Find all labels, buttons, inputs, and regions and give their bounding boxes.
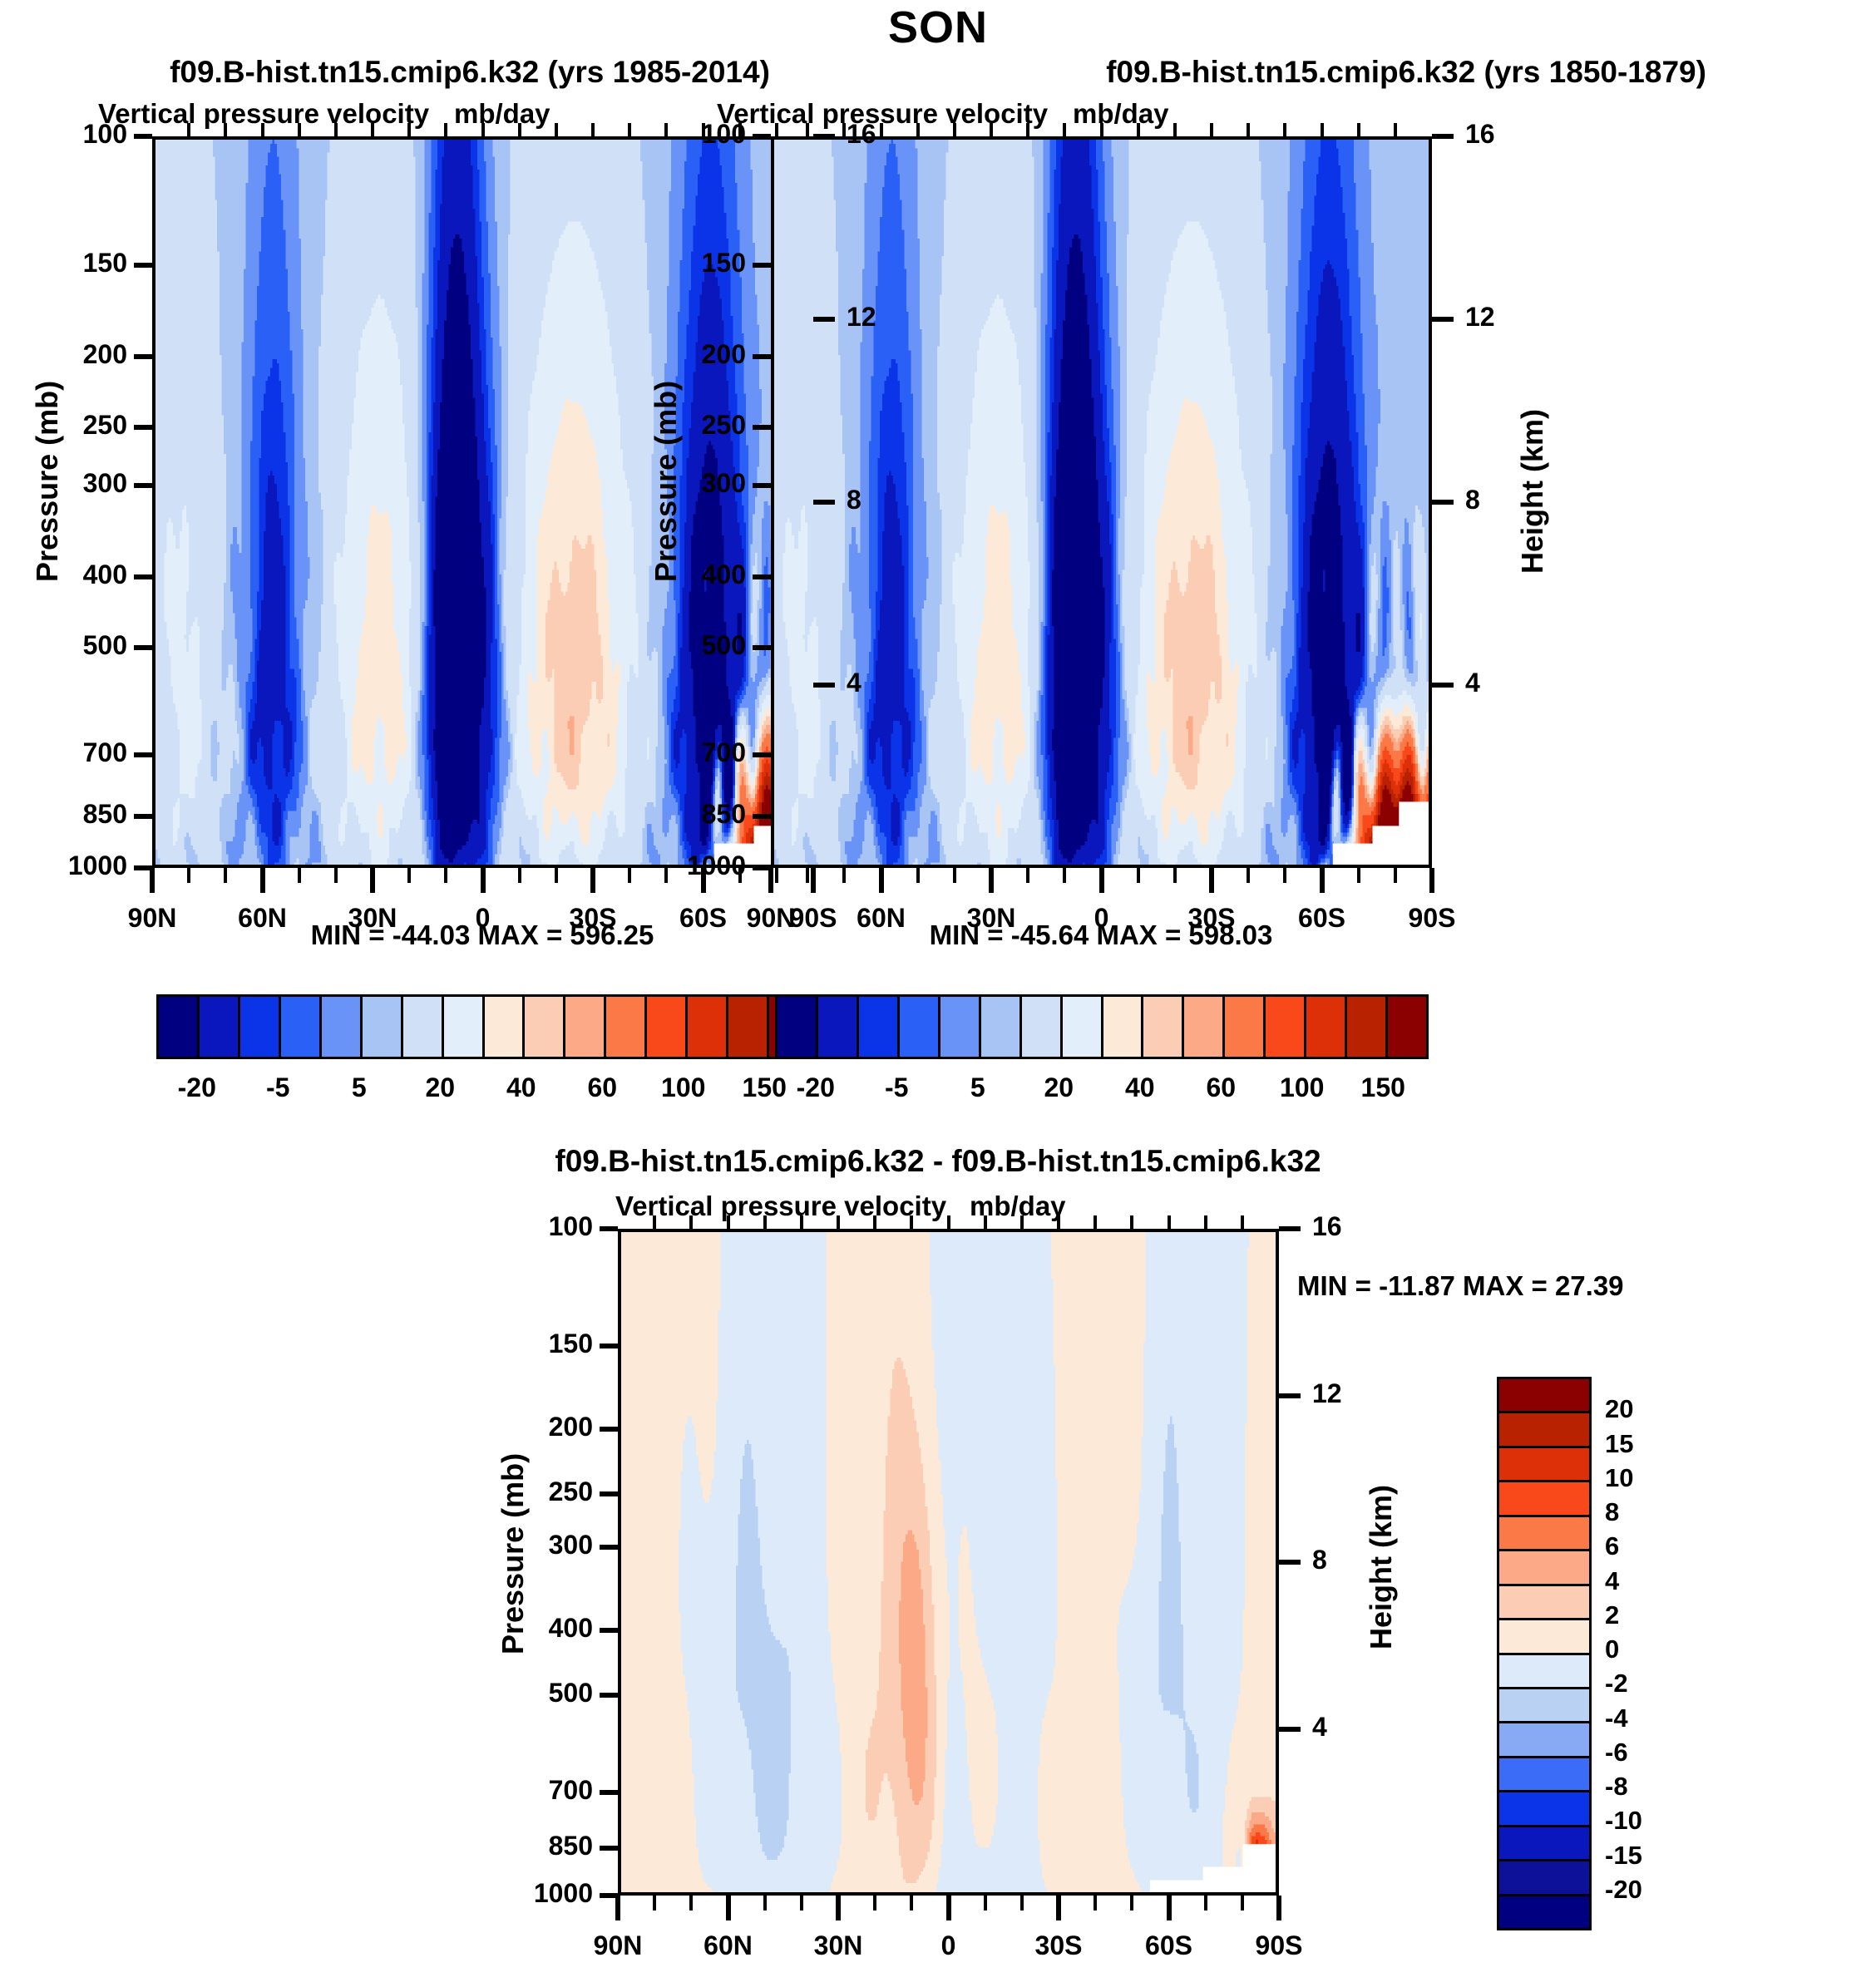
xtick-minor-tr [916,868,920,883]
xtick-tl-60N [260,868,265,893]
y2tick-label-tl-8: 8 [847,485,921,515]
xtick-minor-tr [1394,868,1397,883]
xtick-minor-tl [444,868,447,883]
colorbar-cell-tl-0[interactable] [159,997,200,1057]
xtick-minor-df [1094,1896,1097,1911]
ytick-df-500 [600,1693,618,1698]
colorbar-cell-tl-13[interactable] [688,997,728,1057]
xtick-top-tr [1283,123,1286,136]
colorbar-cell-tr-5[interactable] [981,997,1022,1057]
xtick-tr-30N [989,868,994,893]
colorbar-cell-tr-13[interactable] [1306,997,1347,1057]
ytick-df-100 [600,1226,618,1231]
xtick-minor-tl [298,868,301,883]
xtick-top-tr [806,123,809,136]
colorbar-cell-tr-1[interactable] [818,997,859,1057]
ytick-label-tl-150: 150 [0,248,127,279]
ytick-tr-200 [753,354,771,359]
y2tick-label-tr-16: 16 [1465,119,1540,150]
xtick-tr-60N [879,868,884,893]
ytick-tr-700 [753,752,771,757]
y2tick-label-df-16: 16 [1312,1211,1387,1242]
ytick-label-tr-100: 100 [613,119,746,150]
xtick-top-tl [261,123,264,136]
xtick-minor-tr [1137,868,1140,883]
ytick-tl-150 [134,263,152,268]
xtick-top-tr [1210,123,1213,136]
xtick-tl-90S [811,868,816,893]
colorbar-cell-diff-4[interactable] [1499,1517,1589,1551]
ytick-label-tr-1000: 1000 [613,850,746,881]
ytick-label-df-1000: 1000 [460,1878,593,1909]
xtick-minor-df [653,1896,656,1911]
xtick-top-tr [953,123,956,136]
ytick-tr-250 [753,425,771,430]
ytick-tl-300 [134,483,152,488]
ytick-tl-500 [134,645,152,650]
xtick-minor-tr [1357,868,1360,883]
ytick-label-tl-300: 300 [0,468,127,499]
xtick-minor-tl [224,868,227,883]
xtick-tr-60S [1320,868,1325,893]
colorbar-cell-tr-12[interactable] [1266,997,1306,1057]
colorbar-cell-tl-6[interactable] [403,997,444,1057]
colorbar-cell-diff-1[interactable] [1499,1413,1589,1447]
xtick-minor-tr [806,868,809,883]
colorbar-label-diff-0: 0 [1605,1634,1619,1664]
ytick-df-150 [600,1344,618,1348]
ytick-label-tl-200: 200 [0,339,127,370]
xtick-minor-tl [775,868,778,883]
colorbar-label-diff--15: -15 [1605,1841,1642,1871]
colorbar-cell-tl-5[interactable] [363,997,403,1057]
xtick-top-df [1168,1215,1171,1229]
colorbar-cell-tr-15[interactable] [1388,997,1426,1057]
xtick-top-tr [1137,123,1140,136]
xtick-df-90S [1276,1896,1281,1920]
xtick-top-tr [990,123,993,136]
colorbar-cell-tl-8[interactable] [485,997,526,1057]
y2tick-tl-16 [813,134,835,139]
xtick-minor-tl [555,868,558,883]
colorbar-label-diff--2: -2 [1605,1669,1628,1699]
colorbar-cell-tr-8[interactable] [1103,997,1144,1057]
xtick-top-tl [371,123,374,136]
ytick-label-df-150: 150 [460,1329,593,1359]
xtick-df-90N [615,1896,620,1920]
colorbar-label-diff--8: -8 [1605,1772,1628,1802]
colorbar-label-diff-15: 15 [1605,1429,1633,1459]
ytick-df-300 [600,1545,618,1550]
xtick-minor-tl [334,868,338,883]
colorbar-cell-tr-3[interactable] [900,997,940,1057]
y2tick-tl-12 [813,317,835,322]
colorbar-cell-diff-13[interactable] [1499,1827,1589,1861]
colorbar-label-diff-2: 2 [1605,1600,1619,1630]
xtick-top-tl [187,123,190,136]
xtick-tr-90S [1429,868,1434,893]
contour-canvas-diff [621,1232,1279,1896]
xtick-tl-90N [150,868,155,893]
colorbar-cell-tl-4[interactable] [322,997,363,1057]
ytick-label-tr-250: 250 [613,410,746,441]
ytick-tl-100 [134,134,152,139]
xtick-top-tl [775,123,778,136]
xtick-minor-tr [953,868,956,883]
xtick-minor-tr [1173,868,1177,883]
xtick-top-tl [444,123,447,136]
y2tick-label-tr-8: 8 [1465,485,1540,515]
xtick-top-df [800,1215,803,1229]
ytick-label-df-200: 200 [460,1412,593,1442]
colorbar-cell-tl-14[interactable] [728,997,769,1057]
xtick-minor-df [689,1896,693,1911]
colorbar-cell-tl-7[interactable] [444,997,485,1057]
colorbar-cell-tl-2[interactable] [240,997,281,1057]
y2tick-label-df-4: 4 [1312,1712,1387,1743]
colorbar-top-left[interactable] [156,994,810,1059]
ytick-label-tr-150: 150 [613,248,746,279]
xtick-minor-tl [407,868,411,883]
xtick-top-df [1204,1215,1207,1229]
panel-title-diff: f09.B-hist.tn15.cmip6.k32 - f09.B-hist.t… [0,1144,1876,1179]
xtick-minor-tr [842,868,846,883]
xtick-top-tr [1100,123,1103,136]
xtick-tl-30N [370,868,375,893]
ytick-tl-200 [134,354,152,359]
ytick-tl-850 [134,814,152,819]
ytick-label-tr-850: 850 [613,799,746,830]
xtick-top-df [727,1215,730,1229]
ytick-label-tl-850: 850 [0,799,127,830]
ytick-label-df-300: 300 [460,1530,593,1560]
colorbar-cell-diff-6[interactable] [1499,1586,1589,1620]
colorbar-cell-diff-9[interactable] [1499,1689,1589,1723]
y2tick-label-tl-12: 12 [847,302,921,333]
colorbar-cell-tr-11[interactable] [1225,997,1266,1057]
xtick-minor-df [763,1896,767,1911]
xtick-df-60N [726,1896,731,1920]
xtick-top-df [910,1215,913,1229]
xtick-minor-df [1020,1896,1024,1911]
ytick-df-850 [600,1846,618,1851]
colorbar-cell-diff-7[interactable] [1499,1620,1589,1654]
xtick-minor-tr [1283,868,1286,883]
colorbar-label-diff-20: 20 [1605,1394,1633,1424]
y2tick-tr-8 [1432,500,1454,505]
xtick-top-df [984,1215,987,1229]
ytick-label-df-500: 500 [460,1678,593,1708]
colorbar-diff[interactable] [1497,1377,1592,1930]
ytick-label-tl-400: 400 [0,560,127,590]
colorbar-cell-diff-8[interactable] [1499,1655,1589,1689]
colorbar-label-diff-6: 6 [1605,1531,1619,1561]
xtick-minor-df [1241,1896,1244,1911]
y2tick-df-12 [1279,1393,1301,1398]
colorbar-cell-tl-10[interactable] [565,997,606,1057]
xtick-tl-0 [481,868,486,893]
colorbar-cell-tr-4[interactable] [940,997,981,1057]
colorbar-cell-tl-12[interactable] [647,997,688,1057]
y2tick-df-4 [1279,1727,1301,1732]
xtick-top-df [873,1215,876,1229]
xtick-top-tl [518,123,521,136]
ytick-df-400 [600,1628,618,1633]
ytick-tl-250 [134,425,152,430]
y2tick-label-df-12: 12 [1312,1378,1387,1409]
ytick-label-df-850: 850 [460,1831,593,1861]
ytick-label-tl-100: 100 [0,119,127,150]
colorbar-label-diff-8: 8 [1605,1497,1619,1527]
panel-title-top-left: f09.B-hist.tn15.cmip6.k32 (yrs 1985-2014… [0,55,940,90]
colorbar-cell-diff-11[interactable] [1499,1758,1589,1792]
xtick-top-tl [407,123,411,136]
colorbar-cell-diff-12[interactable] [1499,1792,1589,1827]
xtick-top-tl [298,123,301,136]
xtick-top-tl [481,123,485,136]
y2tick-tl-4 [813,683,835,688]
xtick-df-60S [1167,1896,1172,1920]
xtick-top-tr [916,123,920,136]
ytick-tr-100 [753,134,771,139]
xtick-top-tr [1321,123,1324,136]
colorbar-cell-tr-0[interactable] [778,997,818,1057]
panel-title-top-right: f09.B-hist.tn15.cmip6.k32 (yrs 1850-1879… [936,55,1876,90]
xtick-tl-30S [590,868,595,893]
y2tick-label-tl-16: 16 [847,119,921,150]
xtick-minor-df [1204,1896,1207,1911]
colorbar-cell-diff-0[interactable] [1499,1379,1589,1413]
units-label-top-right: mb/day [1073,98,1169,130]
ytick-df-700 [600,1790,618,1795]
colorbar-cell-tl-11[interactable] [606,997,647,1057]
xtick-minor-df [800,1896,803,1911]
xtick-label-tr-90S: 90S [1357,903,1507,934]
xtick-top-df [1020,1215,1024,1229]
colorbar-cell-diff-2[interactable] [1499,1448,1589,1482]
ytick-label-tr-400: 400 [613,560,746,590]
y2tick-tl-8 [813,500,835,505]
colorbar-label-tr-150: 150 [1316,1072,1449,1103]
y2tick-label-tr-12: 12 [1465,302,1540,333]
ytick-label-tr-200: 200 [613,339,746,370]
ytick-tl-400 [134,574,152,579]
y2tick-df-8 [1279,1560,1301,1565]
colorbar-cell-tr-7[interactable] [1063,997,1103,1057]
ytick-label-df-100: 100 [460,1211,593,1242]
colorbar-cell-diff-15[interactable] [1499,1896,1589,1928]
xtick-minor-df [910,1896,913,1911]
xtick-top-tr [1394,123,1397,136]
xtick-top-tr [1026,123,1029,136]
ytick-tr-400 [753,574,771,579]
xtick-top-tl [591,123,595,136]
ytick-label-df-700: 700 [460,1775,593,1806]
colorbar-cell-tr-14[interactable] [1347,997,1388,1057]
xtick-top-df [1130,1215,1133,1229]
ytick-tr-150 [753,263,771,268]
figure-title: SON [0,2,1876,53]
xtick-top-df [653,1215,656,1229]
ytick-tr-850 [753,814,771,819]
xtick-top-df [763,1215,767,1229]
y2tick-tr-4 [1432,683,1454,688]
ytick-label-tl-700: 700 [0,737,127,768]
colorbar-label-diff-4: 4 [1605,1566,1619,1596]
xtick-minor-tr [1026,868,1029,883]
y2tick-tr-12 [1432,317,1454,322]
ytick-label-tr-300: 300 [613,468,746,499]
colorbar-cell-diff-14[interactable] [1499,1861,1589,1896]
colorbar-cell-diff-3[interactable] [1499,1482,1589,1516]
minmax-diff: MIN = -11.87 MAX = 27.39 [1297,1270,1624,1302]
colorbar-top-right[interactable] [775,994,1429,1059]
colorbar-label-diff--20: -20 [1605,1875,1642,1905]
xtick-top-df [837,1215,840,1229]
ytick-label-tl-1000: 1000 [0,850,127,881]
ytick-df-250 [600,1491,618,1496]
xtick-top-tr [842,123,846,136]
colorbar-label-diff--4: -4 [1605,1703,1628,1733]
xtick-top-df [689,1215,693,1229]
xtick-minor-tl [518,868,521,883]
xtick-minor-tl [187,868,190,883]
xtick-tr-30S [1209,868,1214,893]
ytick-tr-500 [753,645,771,650]
xtick-top-tl [334,123,338,136]
xtick-minor-tr [1063,868,1066,883]
xtick-top-df [1094,1215,1097,1229]
colorbar-cell-diff-10[interactable] [1499,1723,1589,1758]
variable-label-diff: Vertical pressure velocity [615,1191,946,1222]
colorbar-cell-tl-1[interactable] [200,997,240,1057]
xtick-top-tr [1063,123,1066,136]
xtick-df-30S [1056,1896,1061,1920]
xtick-minor-df [984,1896,987,1911]
colorbar-cell-tr-2[interactable] [859,997,900,1057]
xtick-df-30N [836,1896,841,1920]
y2tick-label-tl-4: 4 [847,668,921,698]
xtick-top-df [1057,1215,1060,1229]
ytick-label-df-400: 400 [460,1613,593,1644]
xtick-top-tl [224,123,227,136]
xtick-top-tr [1173,123,1177,136]
colorbar-label-diff--6: -6 [1605,1738,1628,1768]
colorbar-cell-diff-5[interactable] [1499,1551,1589,1585]
y2tick-label-df-8: 8 [1312,1545,1387,1575]
y2tick-label-tr-4: 4 [1465,668,1540,698]
xtick-minor-df [1130,1896,1133,1911]
xtick-top-tr [1357,123,1360,136]
colorbar-cell-tl-3[interactable] [281,997,322,1057]
ytick-label-tl-500: 500 [0,630,127,661]
xtick-top-tl [555,123,558,136]
xtick-minor-tr [1247,868,1250,883]
colorbar-cell-tr-9[interactable] [1143,997,1184,1057]
xtick-df-0 [946,1896,951,1920]
ytick-label-df-250: 250 [460,1477,593,1507]
ytick-label-tr-500: 500 [613,630,746,661]
xtick-tr-90N [768,868,773,893]
xtick-top-df [1241,1215,1244,1229]
colorbar-cell-tl-9[interactable] [525,997,565,1057]
colorbar-label-diff--10: -10 [1605,1806,1642,1836]
contour-plot-diff [618,1229,1279,1896]
xtick-label-df-90S: 90S [1204,1930,1354,1961]
y2tick-tr-16 [1432,134,1454,139]
y2tick-df-16 [1279,1226,1301,1231]
colorbar-cell-tr-10[interactable] [1184,997,1225,1057]
ytick-label-tr-700: 700 [613,737,746,768]
ytick-df-200 [600,1427,618,1432]
colorbar-label-diff-10: 10 [1605,1463,1633,1493]
xtick-minor-df [873,1896,876,1911]
xtick-tr-0 [1099,868,1104,893]
xtick-top-tr [1247,123,1250,136]
xtick-top-df [947,1215,950,1229]
colorbar-cell-tr-6[interactable] [1022,997,1063,1057]
ytick-tr-300 [753,483,771,488]
xtick-top-tr [880,123,883,136]
units-label-top-left: mb/day [454,98,550,130]
ytick-tl-700 [134,752,152,757]
ytick-label-tl-250: 250 [0,410,127,441]
